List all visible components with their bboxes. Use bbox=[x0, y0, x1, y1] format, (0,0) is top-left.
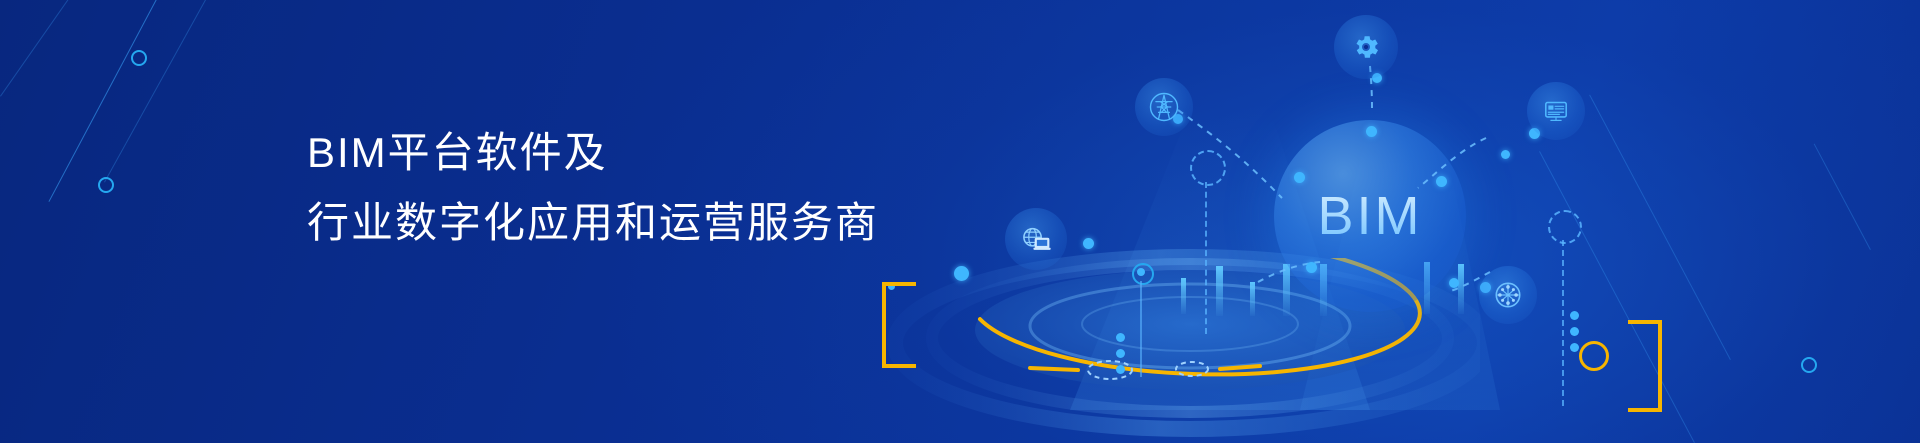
power-tower-icon bbox=[1146, 89, 1182, 125]
headline-line-2: 行业数字化应用和运营服务商 bbox=[307, 188, 947, 258]
left-bracket bbox=[876, 280, 920, 370]
headline-line-1: BIM平台软件及 bbox=[307, 118, 947, 188]
dashed-stem-right bbox=[1562, 240, 1564, 406]
right-bracket bbox=[1622, 318, 1668, 414]
stem-ring-left-core bbox=[1137, 268, 1145, 276]
stem-line-left bbox=[1140, 281, 1142, 377]
decor-ring-1 bbox=[131, 50, 147, 66]
stack-dot-1 bbox=[1116, 333, 1125, 342]
decor-ring-3 bbox=[1801, 357, 1817, 373]
node-dot-bottomleft bbox=[1306, 262, 1317, 273]
stack-dot-3 bbox=[1116, 365, 1125, 374]
node-dot-top bbox=[1366, 126, 1377, 137]
stack-dot-2 bbox=[1116, 349, 1125, 358]
globe-laptop-icon bbox=[1017, 220, 1055, 258]
gear-icon bbox=[1351, 32, 1381, 62]
network-icon-bubble[interactable] bbox=[1479, 266, 1537, 324]
dashed-circle-left bbox=[1190, 150, 1226, 186]
monitor-icon bbox=[1539, 94, 1573, 128]
headline-block: BIM平台软件及 行业数字化应用和运营服务商 bbox=[307, 118, 947, 258]
gear-icon-bubble[interactable] bbox=[1334, 15, 1398, 79]
dashed-stem-left bbox=[1205, 182, 1207, 334]
decor-ring-2 bbox=[98, 177, 114, 193]
node-dot-right bbox=[1436, 176, 1447, 187]
globe-laptop-icon-bubble[interactable] bbox=[1005, 208, 1067, 270]
node-dot-globe-link bbox=[1083, 238, 1094, 249]
power-tower-icon-bubble[interactable] bbox=[1135, 78, 1193, 136]
yellow-ring bbox=[1579, 341, 1609, 371]
monitor-icon-bubble[interactable] bbox=[1527, 82, 1585, 140]
node-dot-platform-left bbox=[954, 266, 969, 281]
node-dot-monitor-link-2 bbox=[1501, 150, 1510, 159]
stack-dot-r1 bbox=[1570, 311, 1579, 320]
hero-banner: BIM平台软件及 行业数字化应用和运营服务商 bbox=[0, 0, 1920, 443]
stack-dot-r3 bbox=[1570, 343, 1579, 352]
network-icon bbox=[1490, 277, 1526, 313]
node-dot-bottomright bbox=[1449, 278, 1459, 288]
stack-dot-r2 bbox=[1570, 327, 1579, 336]
node-dot-left bbox=[1294, 172, 1305, 183]
dashed-circle-right bbox=[1548, 210, 1582, 244]
